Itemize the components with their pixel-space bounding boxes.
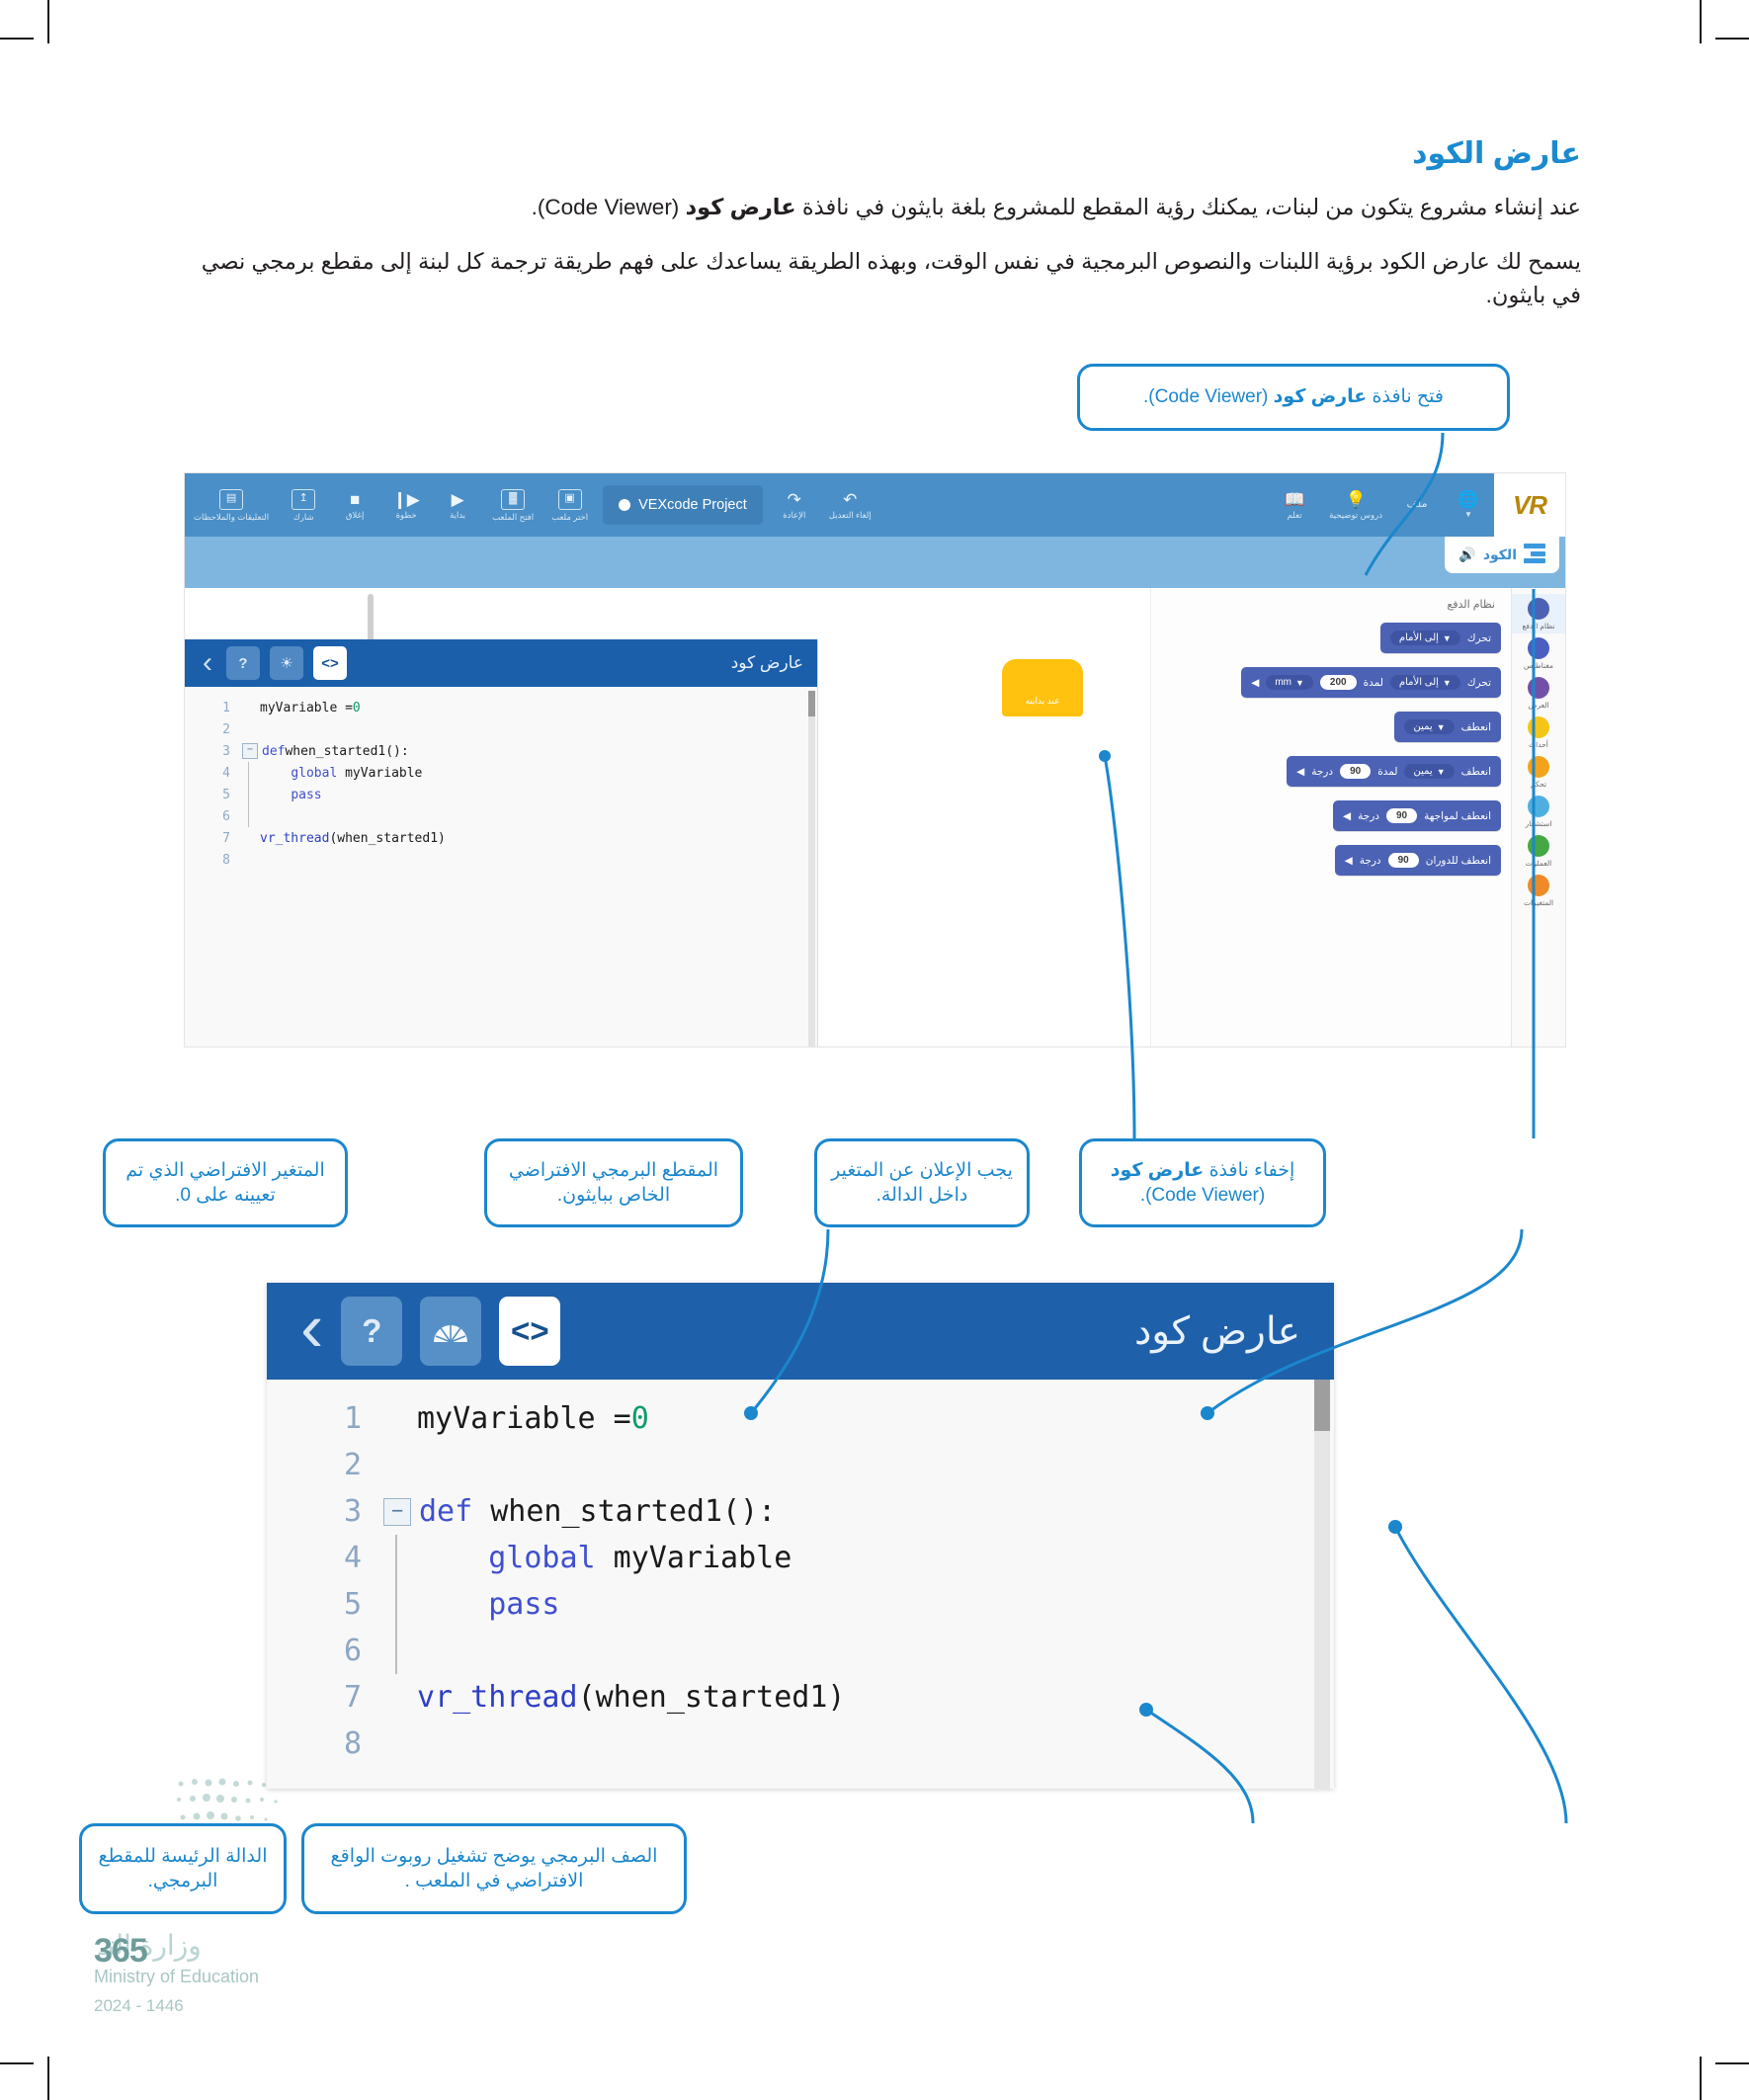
collapse-chevron-icon[interactable]: › — [199, 648, 216, 678]
palette-block[interactable]: انعطف ▼يمين — [1394, 712, 1501, 742]
callout-python-snippet: المقطع البرمجي الافتراضي الخاص ببايثون. — [484, 1138, 743, 1227]
paragraph-1-bold: عارض كود — [686, 195, 796, 219]
category-dot-icon — [1528, 796, 1549, 817]
line-number: 8 — [267, 1726, 383, 1761]
block-text: درجة — [1311, 766, 1333, 778]
code-line: 8 — [185, 849, 817, 871]
file-menu-button[interactable]: ملف — [1391, 473, 1443, 537]
dropdown-value: يمين — [1413, 766, 1432, 777]
block-text: لمدة — [1364, 677, 1383, 689]
line-number: 7 — [185, 831, 242, 846]
code-viewer-enlarged-code-area[interactable]: 1myVariable = 0 2 3−def when_started1():… — [267, 1380, 1334, 1789]
stop-icon: ■ — [350, 491, 360, 508]
fold-placeholder — [383, 1731, 409, 1757]
block-text: انعطف للدوران — [1426, 855, 1491, 867]
code-viewer-title: عارض كود — [357, 653, 803, 673]
code-token: myVariable = — [260, 701, 353, 715]
undo-button[interactable]: ↶ إلغاء التعديل — [820, 473, 880, 537]
globe-icon: 🌐 — [1457, 491, 1478, 508]
code-token: vr_thread — [260, 831, 329, 846]
chevron-down-icon: ▼ — [1443, 633, 1452, 643]
block-run-arrow-icon[interactable]: ◀ — [1345, 855, 1353, 867]
undo-label: إلغاء التعديل — [829, 511, 872, 520]
start-label: بداية — [450, 511, 465, 520]
fold-placeholder — [242, 722, 256, 736]
line-number: 6 — [267, 1634, 383, 1668]
block-text: لمدة — [1377, 766, 1397, 778]
callout-open-before: فتح نافذة — [1367, 386, 1444, 407]
category-control[interactable]: تحكم — [1512, 752, 1565, 792]
block-text: انعطف — [1461, 766, 1491, 778]
block-number-input[interactable]: 90 — [1340, 764, 1371, 779]
block-unit-dropdown[interactable]: ▼mm — [1266, 675, 1313, 690]
indent-guide — [242, 784, 256, 805]
code-line: 2 — [185, 718, 817, 740]
code-token — [260, 788, 291, 802]
block-text: تحرك — [1467, 632, 1491, 644]
category-variables[interactable]: المتغيرات — [1512, 871, 1565, 910]
undo-icon: ↶ — [843, 491, 857, 508]
file-menu-label: ملف — [1407, 499, 1428, 511]
indent-guide — [242, 805, 256, 827]
code-line: 6 — [185, 805, 817, 827]
redo-label: الإعادة — [783, 511, 805, 520]
project-name-label: VEXcode Project — [638, 497, 747, 513]
code-token: (when_started1) — [578, 1680, 846, 1715]
code-line: 5 pass — [267, 1581, 1334, 1628]
code-token: myVariable = — [417, 1401, 631, 1436]
page-title: عارض الكود — [1412, 136, 1581, 171]
crop-mark-tr-v — [1700, 0, 1702, 43]
chevron-down-icon: ▼ — [1295, 678, 1304, 688]
code-viewer-panel-inline: عارض كود <> ☀ ? › 1myVariable = 0 2 3−de… — [185, 639, 818, 1048]
redo-button[interactable]: ↷ الإعادة — [769, 473, 820, 537]
code-line: 1myVariable = 0 — [185, 697, 817, 718]
indent-guide — [242, 762, 256, 784]
open-playground-button[interactable]: ▓ افتح الملعب — [483, 473, 542, 537]
connector-main-function — [1395, 1527, 1566, 1823]
code-token: 0 — [631, 1401, 649, 1436]
line-number: 4 — [267, 1541, 383, 1575]
block-dropdown[interactable]: ▼يمين — [1404, 764, 1454, 779]
project-name-field[interactable]: VEXcode Project — [603, 485, 763, 525]
category-label: المتغيرات — [1524, 898, 1553, 907]
block-text: درجة — [1360, 855, 1381, 867]
intro-paragraph-2: يسمح لك عارض الكود برؤية اللبنات والنصوص… — [168, 245, 1581, 312]
chevron-down-icon: ▼ — [1443, 678, 1452, 688]
category-dot-icon — [1528, 637, 1549, 659]
palette-block[interactable]: انعطف لمواجهة 90 درجة ◀ — [1333, 800, 1501, 831]
block-number-input[interactable]: 90 — [1386, 808, 1417, 823]
crop-mark-tr-h — [1715, 38, 1749, 40]
step-label: خطوة — [396, 511, 417, 520]
crop-mark-tl-h — [0, 38, 34, 40]
block-dropdown[interactable]: ▼إلى الأمام — [1390, 630, 1460, 645]
project-status-dot-icon — [619, 499, 630, 511]
category-rail: نظام الدفع مغناطيس العرض أحداث تحكم استش… — [1511, 588, 1565, 1047]
share-label: شارك — [293, 513, 314, 522]
block-run-arrow-icon[interactable]: ◀ — [1296, 766, 1304, 778]
help-button[interactable]: ? — [341, 1297, 402, 1366]
indent-guide — [383, 1628, 409, 1674]
code-line: 8 — [267, 1721, 1334, 1767]
paragraph-1-latin: (Code Viewer) — [538, 191, 679, 224]
line-number: 3 — [185, 744, 242, 759]
category-magnet[interactable]: مغناطيس — [1512, 633, 1565, 673]
fold-placeholder — [383, 1453, 409, 1478]
code-line: 5 pass — [185, 784, 817, 805]
dropdown-value: mm — [1275, 677, 1291, 688]
code-token — [260, 766, 291, 781]
code-viewer-enlarged: عارض كود <> ? › 1myVariable = 0 2 3−def … — [267, 1283, 1334, 1789]
callout-declare-inside-function: يجب الإعلان عن المتغير داخل الدالة. — [814, 1138, 1030, 1227]
code-scrollbar[interactable] — [1314, 1380, 1330, 1789]
block-dropdown[interactable]: ▼إلى الأمام — [1390, 675, 1460, 690]
code-token: vr_thread — [417, 1680, 578, 1715]
playground-open-icon: ▓ — [501, 489, 525, 510]
dashboard-button[interactable] — [420, 1297, 481, 1366]
code-line: 6 — [267, 1628, 1334, 1674]
code-viewer-enlarged-header: عارض كود <> ? › — [267, 1283, 1334, 1380]
paragraph-1-text: عند إنشاء مشروع يتكون من لبنات، يمكنك رؤ… — [796, 195, 1581, 219]
code-fold-toggle[interactable]: − — [242, 743, 258, 759]
stop-button[interactable]: ■ إغلاق — [329, 473, 380, 537]
category-dot-icon — [1528, 835, 1549, 857]
code-line: 2 — [267, 1442, 1334, 1488]
chevron-down-icon: ▼ — [1437, 722, 1446, 732]
collapse-chevron-icon[interactable]: › — [300, 1303, 323, 1360]
book-icon: 📖 — [1285, 491, 1305, 508]
callout-hide-bold: عارض كود — [1111, 1160, 1205, 1181]
block-dropdown[interactable]: ▼يمين — [1404, 719, 1454, 734]
share-icon: ↥ — [291, 489, 315, 510]
line-number: 5 — [267, 1587, 383, 1622]
category-dot-icon — [1528, 756, 1549, 778]
ministry-years: 2024 - 1446 — [94, 1996, 184, 2016]
fold-placeholder — [242, 853, 256, 867]
dropdown-value: إلى الأمام — [1399, 677, 1439, 688]
callout-open-bold: عارض كود — [1274, 386, 1368, 407]
category-dot-icon — [1528, 598, 1549, 620]
chevron-down-icon: ▼ — [1437, 767, 1446, 777]
category-label: العرض — [1528, 701, 1548, 710]
callout-hide-code-viewer: إخفاء نافذة عارض كود(Code Viewer). — [1079, 1138, 1326, 1227]
category-label: العمليات — [1526, 859, 1551, 868]
palette-title: نظام الدفع — [1155, 598, 1495, 611]
line-number: 4 — [185, 766, 242, 781]
callout-default-variable: المتغير الافتراضي الذي تم تعيينه على 0. — [103, 1138, 348, 1227]
palette-block[interactable]: انعطف ▼يمين لمدة 90 درجة ◀ — [1287, 756, 1501, 787]
indent-guide — [383, 1535, 409, 1581]
line-number: 3 — [267, 1494, 383, 1529]
stop-label: إغلاق — [346, 511, 364, 520]
category-sensing[interactable]: استشعار — [1512, 792, 1565, 831]
redo-icon: ↷ — [788, 491, 801, 508]
dashboard-button[interactable]: ☀ — [270, 646, 303, 680]
code-line: 4 global myVariable — [267, 1535, 1334, 1581]
crop-mark-tl-v — [47, 0, 49, 43]
code-token: myVariable — [337, 766, 422, 781]
blocks-palette[interactable]: نظام الدفع تحرك ▼إلى الأمام تحرك ▼إلى ال… — [1150, 588, 1511, 1047]
code-fold-toggle[interactable]: − — [383, 1498, 411, 1526]
category-label: نظام الدفع — [1522, 622, 1554, 630]
block-text: تحرك — [1467, 677, 1491, 689]
line-number: 2 — [185, 722, 242, 737]
block-text: درجة — [1358, 810, 1379, 822]
tutorials-label: دروس توضيحية — [1329, 511, 1382, 520]
code-line: 3−def when_started1(): — [185, 740, 817, 762]
line-number: 2 — [267, 1448, 383, 1482]
code-token: myVariable — [596, 1541, 792, 1575]
play-icon: ▶ — [452, 491, 464, 508]
category-label: مغناطيس — [1524, 661, 1553, 670]
category-label: تحكم — [1531, 780, 1546, 789]
category-label: أحداث — [1529, 740, 1548, 749]
code-toggle-button[interactable]: <> — [499, 1297, 560, 1366]
callout-open-code-viewer: فتح نافذة عارض كود (Code Viewer). — [1077, 364, 1510, 431]
code-viewer-code-area-inline[interactable]: 1myVariable = 0 2 3−def when_started1():… — [185, 687, 817, 1048]
line-number: 8 — [185, 853, 242, 868]
category-dot-icon — [1528, 677, 1549, 699]
callout-vr-class: الصف البرمجي يوضح تشغيل روبوت الواقع الا… — [301, 1823, 687, 1914]
code-token: def — [262, 744, 285, 759]
category-drivetrain[interactable]: نظام الدفع — [1512, 594, 1565, 633]
palette-block[interactable]: تحرك ▼إلى الأمام — [1380, 623, 1501, 653]
line-number: 7 — [267, 1680, 383, 1715]
language-globe-button[interactable]: 🌐 ▼ — [1443, 473, 1494, 537]
callout-main-function: الدالة الرئيسة للمقطع البرمجي. — [79, 1823, 287, 1914]
line-number: 1 — [267, 1401, 383, 1436]
step-button[interactable]: ▶❙ خطوة — [380, 473, 432, 537]
category-dot-icon — [1528, 875, 1549, 896]
crop-mark-bl-h — [0, 2062, 34, 2064]
dropdown-value: يمين — [1413, 721, 1432, 732]
learn-label: تعلم — [1288, 511, 1302, 520]
ministry-name-english: Ministry of Education — [94, 1967, 259, 1987]
code-token: 0 — [353, 701, 361, 715]
code-line: 3−def when_started1(): — [267, 1488, 1334, 1535]
intro-paragraph-1: عند إنشاء مشروع يتكون من لبنات، يمكنك رؤ… — [168, 191, 1581, 224]
code-line: 7vr_thread(when_started1) — [267, 1674, 1334, 1721]
dropdown-value: إلى الأمام — [1399, 632, 1439, 643]
blocks-stack-icon — [1524, 544, 1545, 566]
code-token: when_started1(): — [472, 1494, 776, 1529]
palette-block[interactable]: تحرك ▼إلى الأمام لمدة 200 ▼mm ◀ — [1241, 667, 1501, 698]
start-button[interactable]: ▶ بداية — [432, 473, 483, 537]
crop-mark-br-v — [1700, 2057, 1702, 2100]
comments-button[interactable]: ▤ التعليقات والملاحظات — [185, 473, 278, 537]
code-token — [417, 1587, 488, 1622]
help-button[interactable]: ? — [226, 646, 260, 680]
toolbar-spacer-left — [880, 473, 1269, 537]
step-icon: ▶❙ — [392, 491, 419, 508]
page-number: 365 — [94, 1932, 147, 1971]
code-line: 7vr_thread(when_started1) — [185, 827, 817, 849]
sound-icon: 🔊 — [1458, 546, 1475, 563]
tab-code[interactable]: الكود 🔊 — [1445, 537, 1559, 573]
lightbulb-icon: 💡 — [1345, 491, 1366, 508]
block-run-arrow-icon[interactable]: ◀ — [1343, 810, 1351, 822]
category-operators[interactable]: العمليات — [1512, 831, 1565, 871]
category-events[interactable]: أحداث — [1512, 713, 1565, 752]
select-playground-label: اختر ملعب — [551, 513, 588, 522]
category-dot-icon — [1528, 716, 1549, 738]
hat-block-label: عند بدايته — [1025, 696, 1059, 707]
block-text: انعطف — [1461, 721, 1491, 733]
crop-mark-bl-v — [47, 2057, 49, 2100]
vex-subbar: الكود 🔊 — [185, 537, 1565, 588]
code-token: (when_started1) — [329, 831, 445, 846]
code-line: 4 global myVariable — [185, 762, 817, 784]
globe-caret-icon: ▼ — [1464, 511, 1472, 519]
line-number: 6 — [185, 809, 242, 824]
code-token: pass — [488, 1587, 559, 1622]
block-number-input[interactable]: 90 — [1388, 853, 1419, 868]
code-token: pass — [291, 788, 321, 802]
when-started-hat-block[interactable]: عند بدايته — [1002, 659, 1083, 716]
open-playground-label: افتح الملعب — [492, 513, 534, 522]
vex-toolbar: VR 🌐 ▼ ملف 💡 دروس توضيحية 📖 تعلم ↶ إلغاء… — [185, 473, 1565, 537]
callout-hide-latin: (Code Viewer) — [1145, 1183, 1265, 1208]
share-button[interactable]: ↥ شارك — [278, 473, 329, 537]
code-token: global — [488, 1541, 595, 1575]
code-scrollbar[interactable] — [808, 691, 815, 1048]
learn-button[interactable]: 📖 تعلم — [1269, 473, 1320, 537]
category-looks[interactable]: العرض — [1512, 673, 1565, 713]
code-token: def — [419, 1494, 472, 1529]
callout-hide-before: إخفاء نافذة — [1204, 1160, 1294, 1181]
code-token — [417, 1541, 488, 1575]
code-viewer-header: عارض كود <> ☀ ? › — [185, 639, 817, 687]
vex-vr-logo: VR — [1494, 473, 1565, 537]
code-line: 1myVariable = 0 — [267, 1395, 1334, 1442]
block-text: انعطف لمواجهة — [1424, 810, 1491, 822]
tutorials-button[interactable]: 💡 دروس توضيحية — [1320, 473, 1391, 537]
line-number: 1 — [185, 701, 242, 715]
comments-label: التعليقات والملاحظات — [194, 513, 269, 522]
code-tab-label: الكود — [1483, 546, 1517, 563]
line-number: 5 — [185, 788, 242, 802]
comments-icon: ▤ — [219, 489, 243, 510]
dashboard-icon — [431, 1316, 470, 1346]
code-viewer-enlarged-title: عارض كود — [578, 1309, 1300, 1354]
palette-block[interactable]: انعطف للدوران 90 درجة ◀ — [1335, 845, 1501, 876]
vex-workspace: نظام الدفع مغناطيس العرض أحداث تحكم استش… — [185, 588, 1565, 1047]
code-token: when_started1(): — [285, 744, 408, 759]
block-number-input[interactable]: 200 — [1320, 675, 1357, 690]
block-run-arrow-icon[interactable]: ◀ — [1251, 677, 1259, 689]
fold-placeholder — [383, 1685, 409, 1711]
connector-dot-main-function — [1388, 1520, 1402, 1534]
code-toggle-button[interactable]: <> — [313, 646, 347, 680]
playground-select-icon: ▣ — [558, 489, 582, 510]
fold-placeholder — [383, 1406, 409, 1432]
code-token: global — [291, 766, 337, 781]
callout-open-latin: (Code Viewer) — [1148, 384, 1268, 409]
category-label: استشعار — [1526, 819, 1552, 828]
indent-guide — [383, 1581, 409, 1628]
crop-mark-br-h — [1715, 2062, 1749, 2064]
vexcode-vr-app-screenshot: VR 🌐 ▼ ملف 💡 دروس توضيحية 📖 تعلم ↶ إلغاء… — [184, 472, 1566, 1048]
fold-placeholder — [242, 831, 256, 845]
fold-placeholder — [242, 701, 256, 714]
select-playground-button[interactable]: ▣ اختر ملعب — [542, 473, 597, 537]
